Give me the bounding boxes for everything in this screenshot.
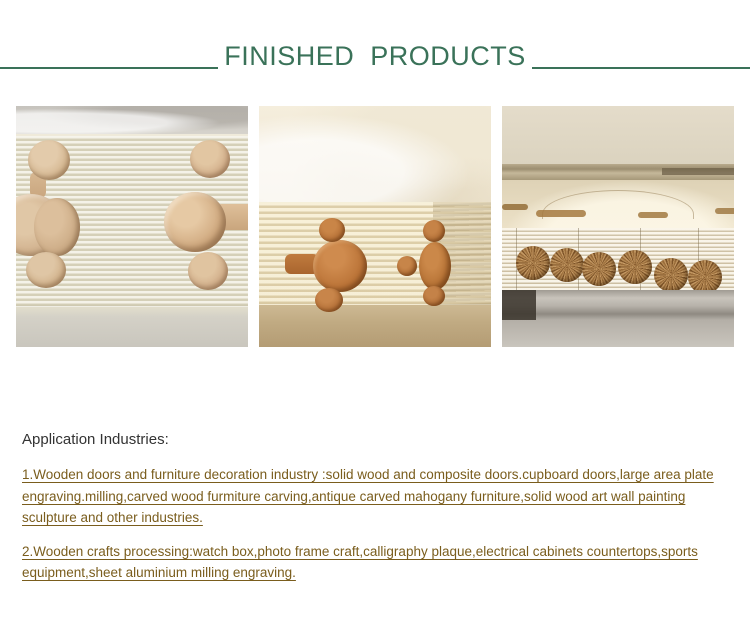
photo3-carved-hole-2 <box>550 248 584 282</box>
gallery-image-cnc-machine-board[interactable] <box>502 106 734 347</box>
application-industries-heading: Application Industries: <box>22 430 734 450</box>
photo2-carve-left-bottom-ear <box>315 288 343 312</box>
photo3-wood-chip-2 <box>536 210 586 217</box>
gallery-image-pine-board[interactable] <box>259 106 491 347</box>
photo3-machine-frame-dark <box>502 290 536 320</box>
page-title: FINISHED PRODUCTS <box>0 36 750 76</box>
photo2-carve-right-top-ear <box>423 220 445 242</box>
photo2-carve-right-body <box>419 242 451 290</box>
photo3-wood-chip-4 <box>715 208 734 214</box>
photo3-machine-rail-shadow <box>662 168 734 175</box>
photo1-carve-left-body-shadow <box>34 198 80 256</box>
photo3-carved-hole-6 <box>688 260 722 294</box>
photo1-lower-edge <box>16 307 248 347</box>
photo2-background-surface <box>259 106 491 202</box>
gallery-image-pale-ribbed-plank[interactable] <box>16 106 248 347</box>
product-gallery <box>16 106 734 347</box>
application-industries-section: Application Industries: 1.Wooden doors a… <box>22 430 734 596</box>
application-industry-item-2: 2.Wooden crafts processing:watch box,pho… <box>22 541 734 584</box>
photo1-carve-left-bottom-ear <box>26 252 66 288</box>
photo2-carve-right-dot <box>397 256 417 276</box>
photo2-carve-left-top-ear <box>319 218 345 242</box>
application-industry-item-1: 1.Wooden doors and furniture decoration … <box>22 464 734 529</box>
photo3-background-wall <box>502 106 734 164</box>
photo1-carve-left-top-ear <box>28 140 70 180</box>
photo3-machine-frame <box>502 290 734 347</box>
photo1-background-surface <box>16 106 248 134</box>
photo1-carve-right-body <box>164 192 226 252</box>
photo2-carve-right-bottom-ear <box>423 286 445 306</box>
photo1-carve-right-top-ear <box>190 140 230 178</box>
photo3-carved-hole-4 <box>618 250 652 284</box>
photo2-lower-edge <box>259 305 491 347</box>
photo2-carve-left-body <box>313 240 367 292</box>
photo3-carved-hole-3 <box>582 252 616 286</box>
photo3-wood-chip-1 <box>502 204 528 210</box>
photo3-carved-hole-5 <box>654 258 688 292</box>
page-header: FINISHED PRODUCTS <box>0 36 750 76</box>
photo3-wood-chip-3 <box>638 212 668 218</box>
photo1-carve-right-bottom-ear <box>188 252 228 290</box>
page-title-text: FINISHED PRODUCTS <box>218 41 532 71</box>
photo3-carved-hole-1 <box>516 246 550 280</box>
